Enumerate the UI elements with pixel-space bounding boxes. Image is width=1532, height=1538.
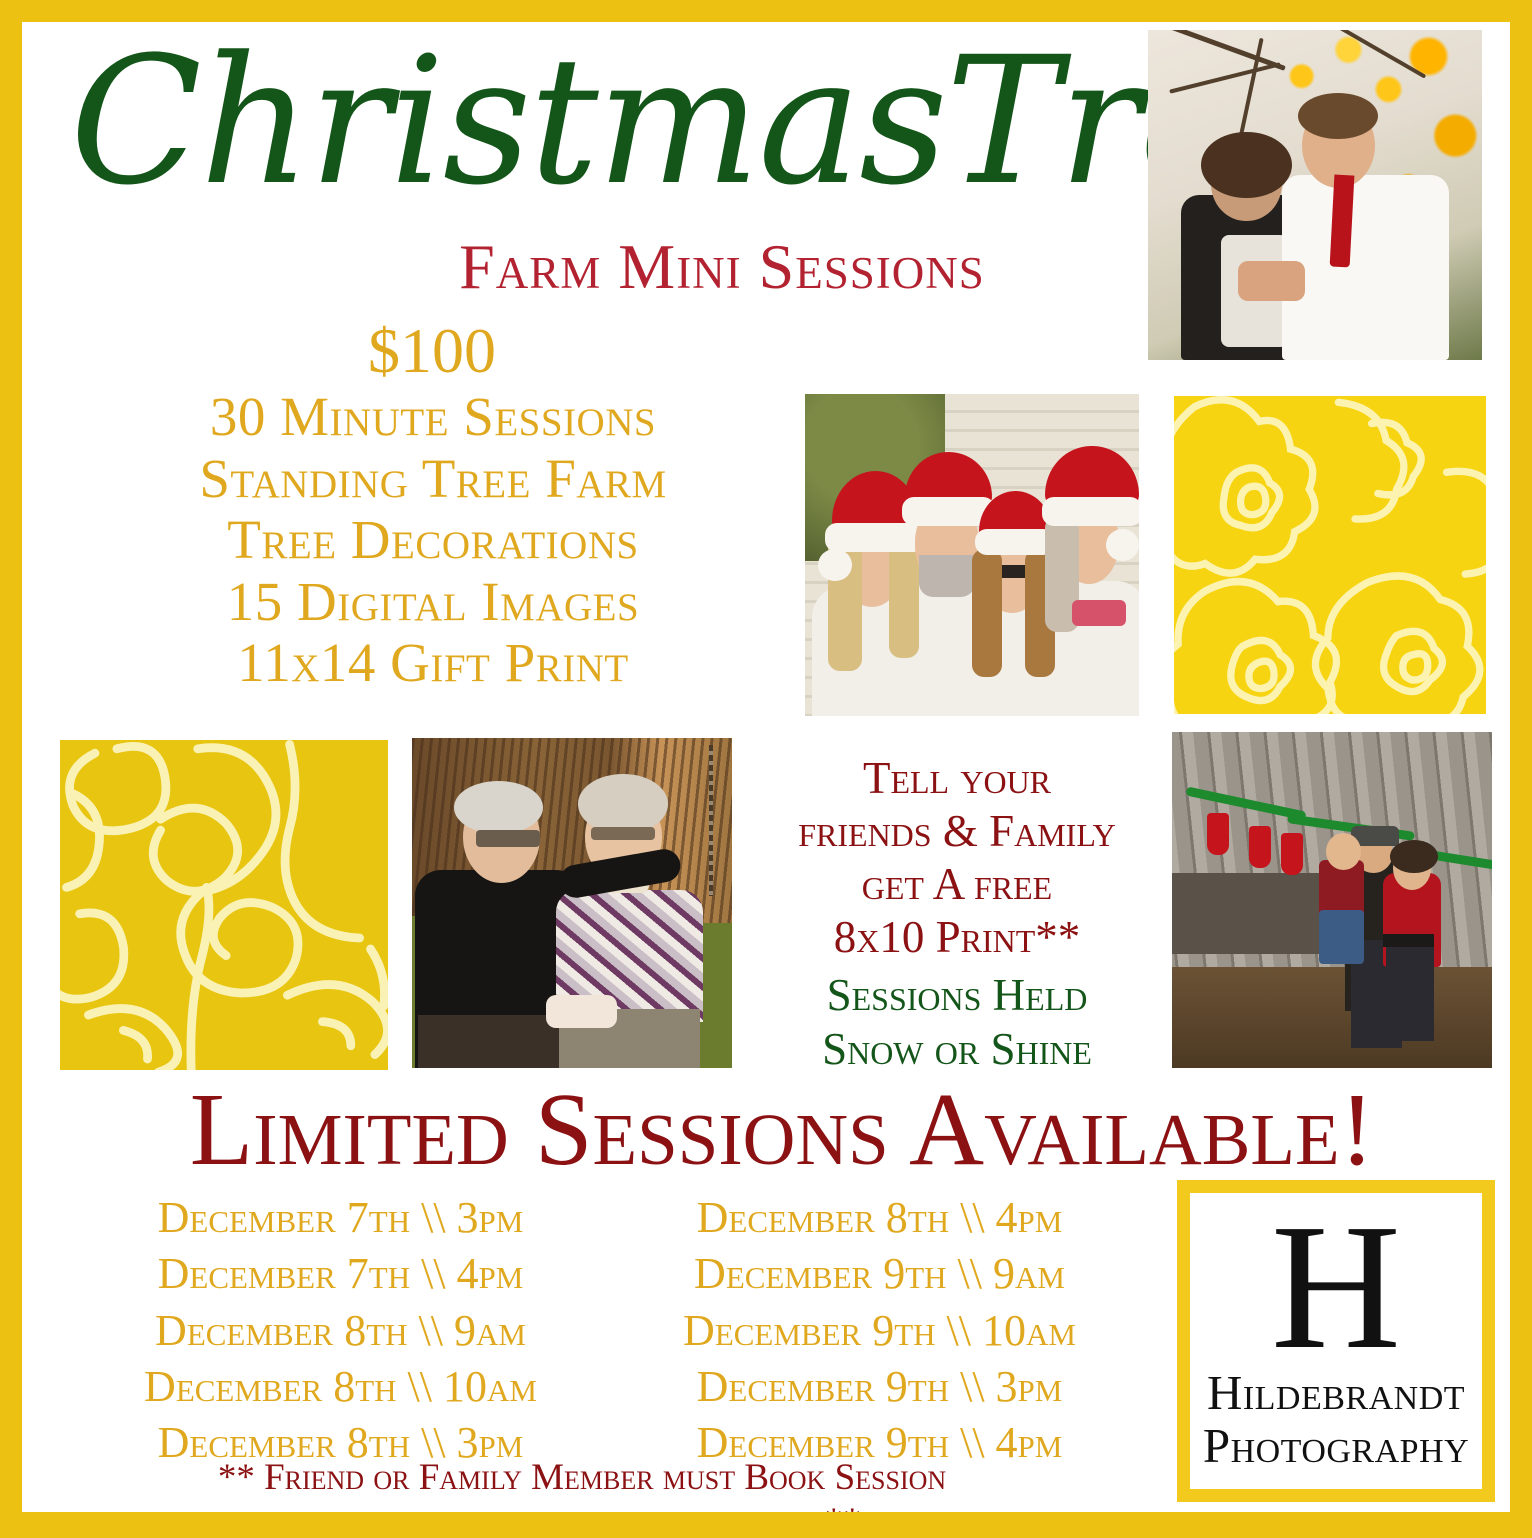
feature-item: 30 Minute Sessions (108, 386, 758, 448)
feature-item: Tree Decorations (108, 509, 758, 571)
feature-item: 11x14 Gift Print (108, 632, 758, 694)
logo-name: Hildebrandt (1207, 1367, 1465, 1420)
weather-line: Sessions Held (752, 968, 1162, 1022)
banner-headline: Limited Sessions Available! (82, 1070, 1482, 1189)
poster: ChristmasTree Farm Mini Sessions $100 30… (0, 0, 1532, 1538)
photo-santa-hats (805, 394, 1139, 716)
schedule-column-left: December 7th \\ 3pm December 7th \\ 4pm … (80, 1190, 601, 1472)
page-title: ChristmasTree (70, 32, 1119, 212)
schedule-item[interactable]: December 7th \\ 3pm (80, 1190, 601, 1246)
schedule-item[interactable]: December 9th \\ 3pm (619, 1359, 1140, 1415)
logo-inner: H Hildebrandt Photography (1190, 1193, 1482, 1489)
schedule-item[interactable]: December 7th \\ 4pm (80, 1246, 601, 1302)
feature-item: Standing Tree Farm (108, 448, 758, 510)
pattern-tile-roses (1174, 396, 1486, 714)
session-schedule: December 7th \\ 3pm December 7th \\ 4pm … (80, 1190, 1140, 1472)
referral-message: Tell your friends & Family get A free 8x… (752, 752, 1162, 964)
logo-word: Photography (1203, 1420, 1469, 1473)
logo-monogram: H (1271, 1215, 1401, 1359)
referral-line: Tell your (752, 752, 1162, 805)
schedule-item[interactable]: December 8th \\ 9am (80, 1303, 601, 1359)
price-label: $100 (122, 314, 742, 388)
photo-elderly-couple (412, 738, 732, 1068)
schedule-item[interactable]: December 9th \\ 9am (619, 1246, 1140, 1302)
footnote-line: ** Friend or Family Member must Book Ses… (82, 1456, 1082, 1500)
photo-couple-autumn (1148, 30, 1482, 360)
pattern-tile-swirl (60, 740, 388, 1070)
referral-line: get A free (752, 858, 1162, 911)
page-subtitle: Farm Mini Sessions (352, 230, 1092, 304)
logo-hildebrandt-photography: H Hildebrandt Photography (1177, 1180, 1495, 1502)
referral-line: friends & Family (752, 805, 1162, 858)
schedule-item[interactable]: December 8th \\ 10am (80, 1359, 601, 1415)
weather-line: Snow or Shine (752, 1022, 1162, 1076)
photo-barn-family (1172, 732, 1492, 1068)
feature-item: 15 Digital Images (108, 571, 758, 633)
schedule-column-right: December 8th \\ 4pm December 9th \\ 9am … (619, 1190, 1140, 1472)
poster-canvas: ChristmasTree Farm Mini Sessions $100 30… (22, 22, 1510, 1512)
feature-list: 30 Minute Sessions Standing Tree Farm Tr… (108, 386, 758, 694)
referral-line: 8x10 Print** (752, 911, 1162, 964)
schedule-item[interactable]: December 9th \\ 10am (619, 1303, 1140, 1359)
weather-message: Sessions Held Snow or Shine (752, 968, 1162, 1076)
schedule-item[interactable]: December 8th \\ 4pm (619, 1190, 1140, 1246)
footnote-line: and give your name when booking.** (82, 1500, 1082, 1512)
footnote: ** Friend or Family Member must Book Ses… (82, 1456, 1082, 1512)
